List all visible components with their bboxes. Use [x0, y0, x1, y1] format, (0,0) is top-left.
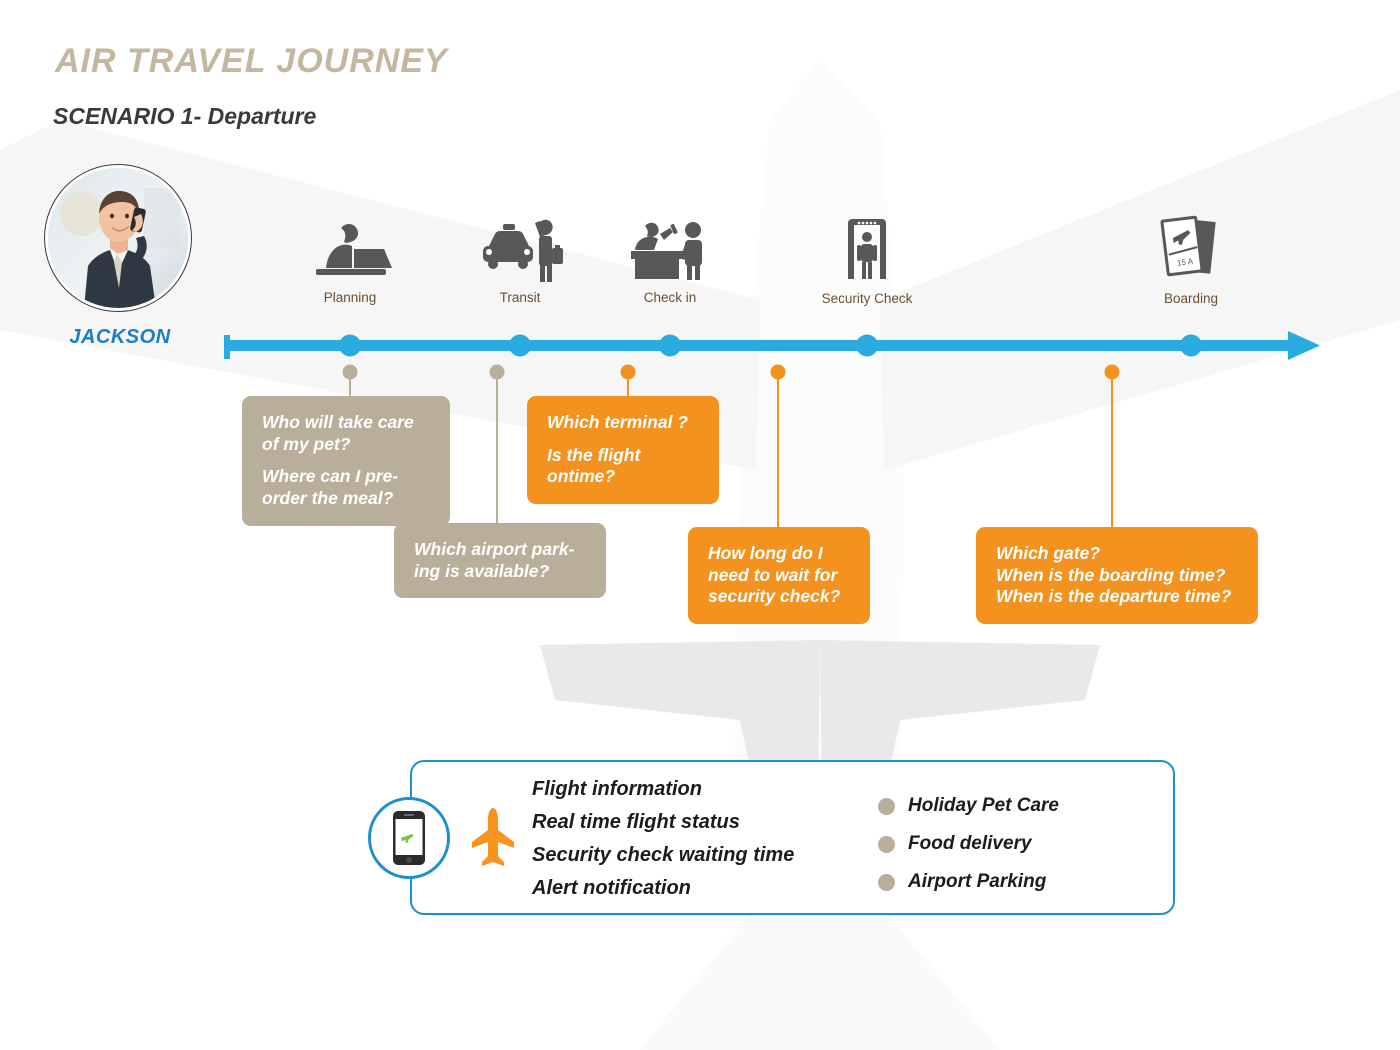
- callout-line: need to wait for: [708, 565, 852, 587]
- timeline-dot-security-check: [856, 335, 878, 357]
- page-title: AIR TRAVEL JOURNEY: [55, 42, 448, 81]
- callout-pin-planning: [343, 365, 358, 397]
- stage-security-check[interactable]: Security Check: [817, 215, 917, 306]
- callout-pin-check-in: [621, 365, 636, 397]
- stage-label-check-in: Check in: [620, 290, 720, 305]
- callout-transit-questions[interactable]: Which airport park- ing is available?: [394, 523, 606, 598]
- avatar: [48, 168, 188, 308]
- airplane-icon: [470, 806, 516, 868]
- timeline-axis: [224, 340, 1294, 351]
- boarding-pass-icon: 15 A: [1155, 213, 1227, 285]
- stage-transit[interactable]: Transit: [470, 218, 570, 305]
- right-arrow-icon: [1288, 331, 1320, 360]
- stage-label-planning: Planning: [300, 290, 400, 305]
- callout-line: Which gate?: [996, 543, 1240, 565]
- service-item: Airport Parking: [878, 871, 1059, 893]
- timeline-dot-planning: [339, 335, 361, 357]
- page-subtitle: SCENARIO 1- Departure: [53, 103, 316, 130]
- feature-item: Real time flight status: [532, 811, 794, 834]
- service-label: Holiday Pet Care: [908, 795, 1059, 817]
- callout-security-questions[interactable]: How long do I need to wait for security …: [688, 527, 870, 624]
- feature-item: Alert notification: [532, 877, 794, 900]
- persona: JACKSON: [48, 168, 188, 308]
- callout-pin-transit: [490, 365, 505, 524]
- feature-item: Flight information: [532, 778, 794, 801]
- stage-boarding[interactable]: 15 A Boarding: [1141, 213, 1241, 306]
- service-item: Holiday Pet Care: [878, 795, 1059, 817]
- person-at-laptop-icon: [308, 222, 392, 284]
- service-label: Food delivery: [908, 833, 1032, 855]
- bullet-icon: [878, 836, 895, 853]
- phone-badge[interactable]: [368, 797, 450, 879]
- stage-label-security-check: Security Check: [817, 291, 917, 306]
- timeline-dot-boarding: [1180, 335, 1202, 357]
- callout-line: Who will take care of my pet?: [262, 412, 432, 455]
- feature-item: Security check waiting time: [532, 844, 794, 867]
- callout-line: When is the departure time?: [996, 586, 1240, 608]
- callout-line: Where can I pre-order the meal?: [262, 466, 432, 509]
- bullet-icon: [878, 874, 895, 891]
- callout-pin-boarding: [1105, 365, 1120, 528]
- callout-line: When is the boarding time?: [996, 565, 1240, 587]
- feature-list: Flight information Real time flight stat…: [532, 778, 794, 910]
- stage-planning[interactable]: Planning: [300, 222, 400, 305]
- bullet-icon: [878, 798, 895, 815]
- taxi-and-traveler-icon: [477, 218, 563, 284]
- timeline-start-cap: [224, 335, 230, 359]
- stage-label-transit: Transit: [470, 290, 570, 305]
- security-scanner-icon: [842, 215, 892, 285]
- callout-line: How long do I: [708, 543, 852, 565]
- service-item: Food delivery: [878, 833, 1059, 855]
- journey-map-canvas: AIR TRAVEL JOURNEY SCENARIO 1- Departure: [0, 0, 1400, 1050]
- callout-pin-security: [771, 365, 786, 528]
- check-in-desk-icon: [627, 218, 713, 284]
- timeline-dot-transit: [509, 335, 531, 357]
- persona-name: JACKSON: [60, 326, 180, 349]
- stage-label-boarding: Boarding: [1141, 291, 1241, 306]
- businessman-on-phone-photo: [48, 168, 188, 308]
- callout-line: Which terminal ?: [547, 412, 701, 434]
- smartphone-app-icon: [392, 810, 426, 866]
- callout-boarding-questions[interactable]: Which gate? When is the boarding time? W…: [976, 527, 1258, 624]
- callout-checkin-questions[interactable]: Which terminal ? Is the flight ontime?: [527, 396, 719, 504]
- service-label: Airport Parking: [908, 871, 1046, 893]
- callout-line: ing is available?: [414, 561, 588, 583]
- service-list: Holiday Pet Care Food delivery Airport P…: [878, 795, 1059, 909]
- timeline-dot-check-in: [659, 335, 681, 357]
- callout-planning-questions[interactable]: Who will take care of my pet? Where can …: [242, 396, 450, 526]
- callout-line: Is the flight ontime?: [547, 445, 701, 488]
- callout-line: security check?: [708, 586, 852, 608]
- stage-check-in[interactable]: Check in: [620, 218, 720, 305]
- callout-line: Which airport park-: [414, 539, 588, 561]
